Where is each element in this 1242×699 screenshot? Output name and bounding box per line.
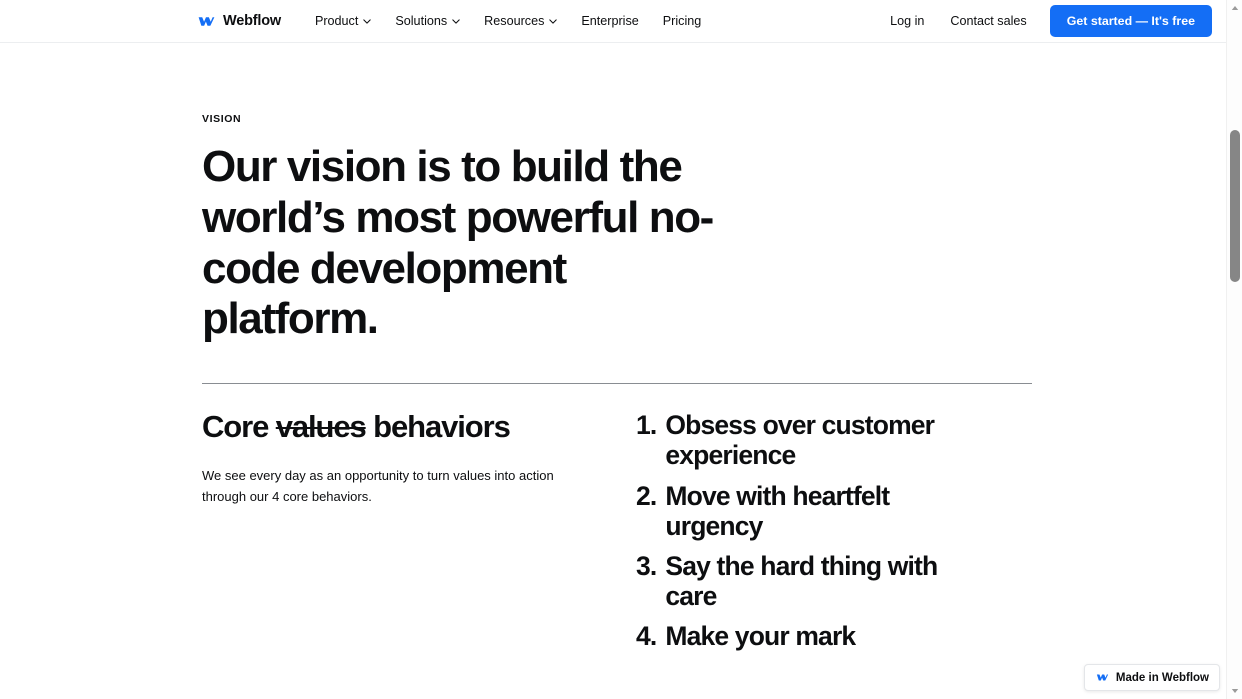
site-header: Webflow Product Solutions Resources: [0, 0, 1226, 43]
nav-item-enterprise[interactable]: Enterprise: [569, 8, 650, 34]
title-prefix: Core: [202, 409, 276, 444]
list-item-label: Make your mark: [665, 621, 855, 651]
nav-label: Product: [315, 14, 358, 28]
nav-item-solutions[interactable]: Solutions: [383, 8, 472, 34]
page-title: Our vision is to build the world’s most …: [202, 142, 747, 345]
nav-label: Solutions: [395, 14, 447, 28]
page-content: VISION Our vision is to build the world’…: [0, 43, 1226, 699]
list-item-number: 3.: [636, 551, 656, 611]
list-item-number: 1.: [636, 410, 656, 470]
nav-label: Resources: [484, 14, 544, 28]
core-behaviors-section: Core values behaviors We see every day a…: [202, 410, 1032, 661]
webflow-logo-icon: [196, 11, 217, 32]
get-started-button[interactable]: Get started — It's free: [1050, 5, 1212, 37]
login-link[interactable]: Log in: [877, 8, 937, 34]
page-scrollbar[interactable]: [1226, 0, 1242, 699]
list-item: 3. Say the hard thing with care: [636, 551, 1032, 611]
section-eyebrow: VISION: [202, 113, 1032, 125]
scroll-up-arrow-icon[interactable]: [1227, 0, 1242, 16]
nav-item-pricing[interactable]: Pricing: [651, 8, 714, 34]
badge-label: Made in Webflow: [1116, 672, 1209, 684]
list-item-label: Say the hard thing with care: [665, 551, 985, 611]
page-root: Webflow Product Solutions Resources: [0, 0, 1242, 699]
core-behaviors-intro: Core values behaviors We see every day a…: [202, 410, 622, 661]
list-item-number: 2.: [636, 481, 656, 541]
scroll-down-arrow-icon[interactable]: [1227, 683, 1242, 699]
header-actions: Log in Contact sales Get started — It's …: [877, 5, 1212, 37]
main-nav: Product Solutions Resources Enterprise: [303, 8, 713, 34]
title-suffix: behaviors: [366, 409, 510, 444]
chevron-down-icon: [452, 19, 460, 24]
list-item-label: Move with heartfelt urgency: [665, 481, 985, 541]
nav-item-product[interactable]: Product: [303, 8, 383, 34]
list-item: 2. Move with heartfelt urgency: [636, 481, 1032, 541]
chevron-down-icon: [549, 19, 557, 24]
title-struck-word: values: [276, 409, 366, 444]
made-in-webflow-badge[interactable]: Made in Webflow: [1084, 664, 1220, 691]
contact-sales-link[interactable]: Contact sales: [937, 8, 1039, 34]
brand-name: Webflow: [223, 13, 281, 29]
chevron-down-icon: [363, 19, 371, 24]
list-item-number: 4.: [636, 621, 656, 651]
nav-label: Enterprise: [581, 14, 638, 28]
content-wrap: VISION Our vision is to build the world’…: [202, 113, 1032, 699]
webflow-brand-link[interactable]: Webflow: [196, 11, 281, 32]
core-behaviors-list-col: 1. Obsess over customer experience 2. Mo…: [622, 410, 1032, 661]
list-item: 4. Make your mark: [636, 621, 1032, 651]
list-item: 1. Obsess over customer experience: [636, 410, 1032, 470]
divider-top: [202, 383, 1032, 384]
nav-item-resources[interactable]: Resources: [472, 8, 569, 34]
core-behaviors-list: 1. Obsess over customer experience 2. Mo…: [636, 410, 1032, 651]
scrollbar-thumb[interactable]: [1230, 130, 1240, 282]
list-item-label: Obsess over customer experience: [665, 410, 985, 470]
core-behaviors-title: Core values behaviors: [202, 410, 592, 443]
webflow-logo-icon: [1095, 670, 1110, 685]
core-behaviors-copy: We see every day as an opportunity to tu…: [202, 465, 577, 507]
nav-label: Pricing: [663, 14, 702, 28]
